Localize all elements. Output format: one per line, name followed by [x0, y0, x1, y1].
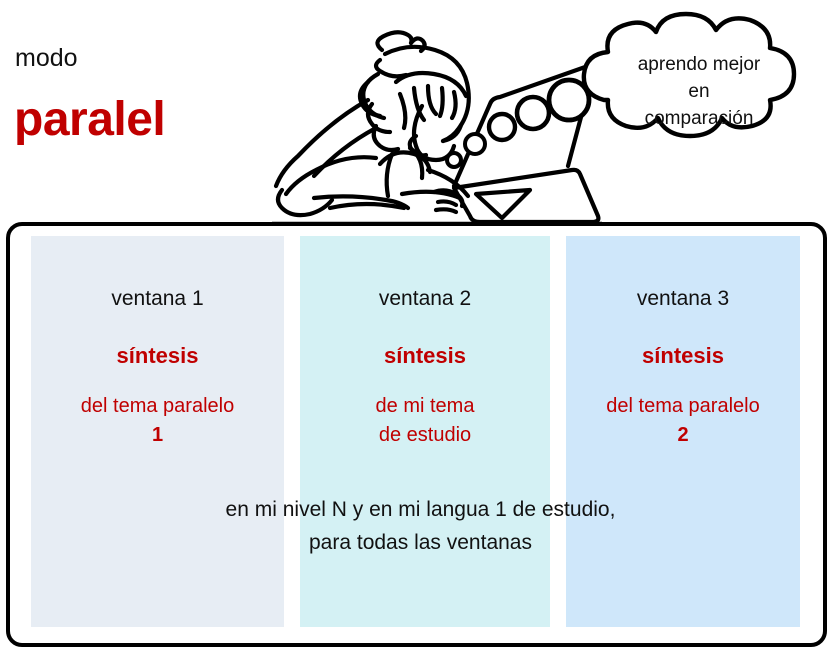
- synthesis-subtitle-2: de mi tema de estudio: [376, 392, 475, 450]
- synthesis-subtitle-3: del tema paralelo 2: [606, 392, 759, 450]
- window-column-3-content: ventana 3 síntesis del tema paralelo 2: [566, 236, 800, 450]
- window-column-3[interactable]: ventana 3 síntesis del tema paralelo 2: [566, 236, 800, 627]
- window-column-2-content: ventana 2 síntesis de mi tema de estudio: [300, 236, 550, 450]
- thought-line-1: aprendo mejor: [638, 52, 761, 79]
- window-columns: ventana 1 síntesis del tema paralelo 1 v…: [10, 226, 823, 643]
- window-label-3: ventana 3: [637, 286, 729, 311]
- synthesis-heading-3: síntesis: [642, 343, 724, 369]
- header-area: modo paralel: [0, 0, 834, 228]
- synthesis-subtitle-2-line2: de estudio: [376, 421, 475, 450]
- synthesis-heading-1: síntesis: [117, 343, 199, 369]
- page-title: paralel: [14, 96, 165, 144]
- thought-cloud-text: aprendo mejor en comparación: [574, 8, 824, 173]
- synthesis-subtitle-1: del tema paralelo 1: [81, 392, 234, 450]
- synthesis-subtitle-2-line1: de mi tema: [376, 395, 475, 417]
- person-studying-at-laptop-icon: [272, 8, 602, 228]
- panel-caption-line-2: para todas las ventanas: [10, 527, 831, 560]
- synthesis-subtitle-1-line2: 1: [81, 421, 234, 450]
- window-column-2[interactable]: ventana 2 síntesis de mi tema de estudio: [300, 236, 550, 627]
- synthesis-subtitle-3-line1: del tema paralelo: [606, 395, 759, 417]
- parallel-mode-panel: ventana 1 síntesis del tema paralelo 1 v…: [6, 222, 827, 647]
- window-column-1-content: ventana 1 síntesis del tema paralelo 1: [31, 236, 284, 450]
- mode-label: modo: [15, 46, 78, 71]
- panel-caption-line-1: en mi nivel N y en mi langua 1 de estudi…: [10, 494, 831, 527]
- synthesis-heading-2: síntesis: [384, 343, 466, 369]
- thought-line-2: en: [688, 79, 709, 106]
- window-label-1: ventana 1: [111, 286, 203, 311]
- thought-cloud: aprendo mejor en comparación: [574, 8, 824, 173]
- window-column-1[interactable]: ventana 1 síntesis del tema paralelo 1: [31, 236, 284, 627]
- panel-caption: en mi nivel N y en mi langua 1 de estudi…: [10, 494, 831, 559]
- synthesis-subtitle-3-line2: 2: [606, 421, 759, 450]
- thought-line-3: comparación: [645, 106, 754, 133]
- window-label-2: ventana 2: [379, 286, 471, 311]
- synthesis-subtitle-1-line1: del tema paralelo: [81, 395, 234, 417]
